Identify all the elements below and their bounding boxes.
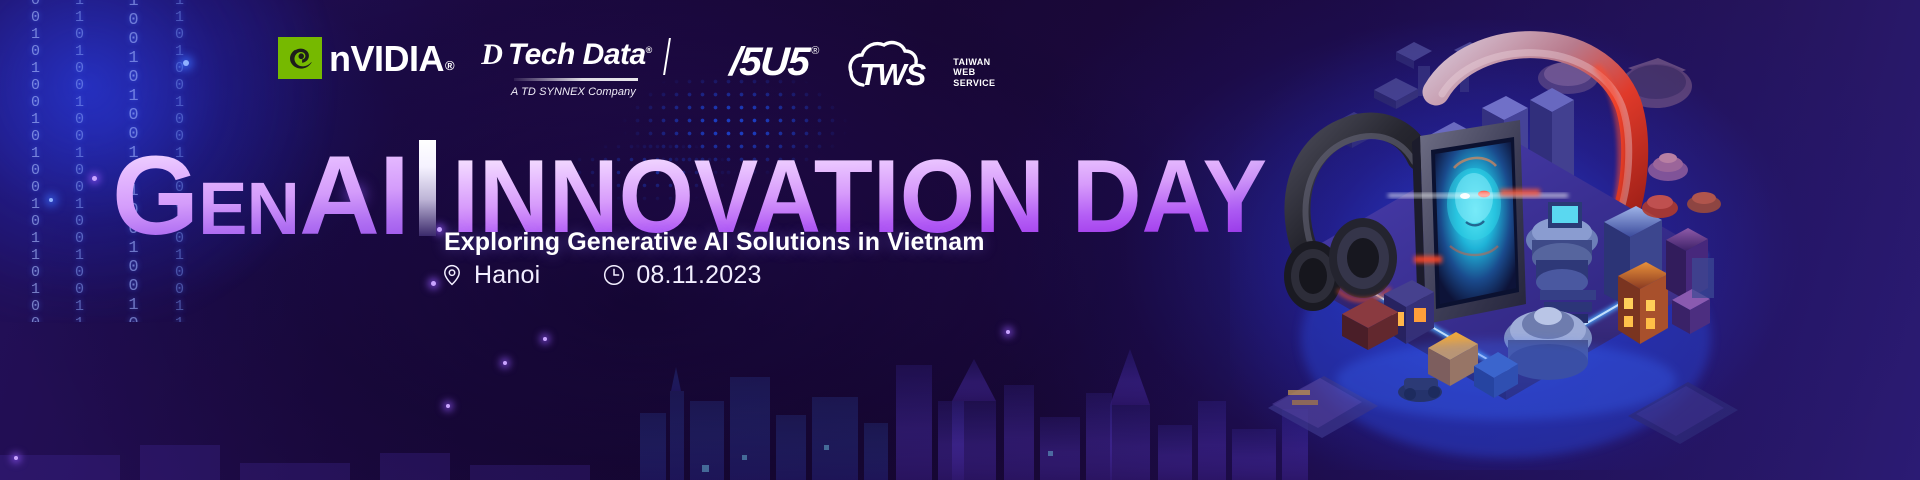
tws-cloud-mark: TWS [847,38,951,94]
tech-data-underline [514,78,638,81]
headline: GENAI INNOVATION DAY [112,140,1328,240]
sparkle-dot [503,361,507,365]
headline-brand: GENAI [112,148,409,244]
nvidia-trademark: ® [445,58,454,73]
asus-trademark: ® [811,46,819,57]
nvidia-wordmark-text: nVIDIA [329,38,444,79]
tech-data-tagline: A TD SYNNEX Company [511,86,636,98]
sparkle-dot [543,337,547,341]
event-date: 08.11.2023 [602,262,761,287]
clock-icon [602,263,626,287]
tech-data-trademark: ® [646,45,652,55]
logo-nvidia[interactable]: nVIDIA® [278,36,453,80]
tech-data-wordmark-text: Tech Data [508,38,646,71]
sparkle-dot [183,60,189,66]
event-meta: Hanoi 08.11.2023 [440,262,762,287]
event-location: Hanoi [440,262,540,287]
sparkle-dot [14,456,18,460]
logo-taiwan-web-service[interactable]: TWS TAIWAN WEB SERVICE [847,38,995,94]
city-skyline-silhouette [0,305,1330,480]
headline-brand-tail: AI [299,133,409,258]
headline-brand-small: EN [198,167,299,250]
sparkle-dot [1006,330,1010,334]
tws-subtitle-line-1: TAIWAN [953,57,995,68]
tws-subtitle-line-2: WEB [953,67,995,78]
partner-logo-strip: nVIDIA® D Tech Data® A TD SYNNEX Company… [278,36,995,98]
tech-data-monogram: D [481,40,503,70]
event-date-label: 08.11.2023 [636,263,761,288]
event-location-label: Hanoi [474,263,540,288]
tws-subtitle: TAIWAN WEB SERVICE [953,57,995,89]
tws-subtitle-line-3: SERVICE [953,78,995,89]
tws-wordmark: TWS [859,59,925,90]
sparkle-dot [92,176,97,181]
sparkle-dot [431,281,436,286]
logo-tech-data[interactable]: D Tech Data® A TD SYNNEX Company [479,38,668,98]
genai-innovation-day-banner: 0010100101001011010010 11010010010010010… [0,0,1920,480]
logo-asus[interactable]: /5U5 ® [730,42,820,82]
location-pin-icon [440,263,464,287]
sparkle-dot [49,198,53,202]
tech-data-mark: D Tech Data® [476,38,670,75]
binary-column: 11010010010010010011001001010010 [72,0,87,322]
tech-data-wordmark: Tech Data® [508,40,652,70]
headline-brand-lead: G [112,133,198,258]
sparkle-dot [446,404,450,408]
asus-wordmark: /5U5 [728,42,809,82]
nvidia-eye-icon [278,37,322,79]
page-subtitle: Exploring Generative AI Solutions in Vie… [444,228,985,257]
nvidia-wordmark: nVIDIA® [329,41,453,77]
binary-column: 0010100101001011010010 [28,0,43,322]
genai-isometric-city-illustration [1268,8,1738,478]
headline-divider [419,140,436,236]
